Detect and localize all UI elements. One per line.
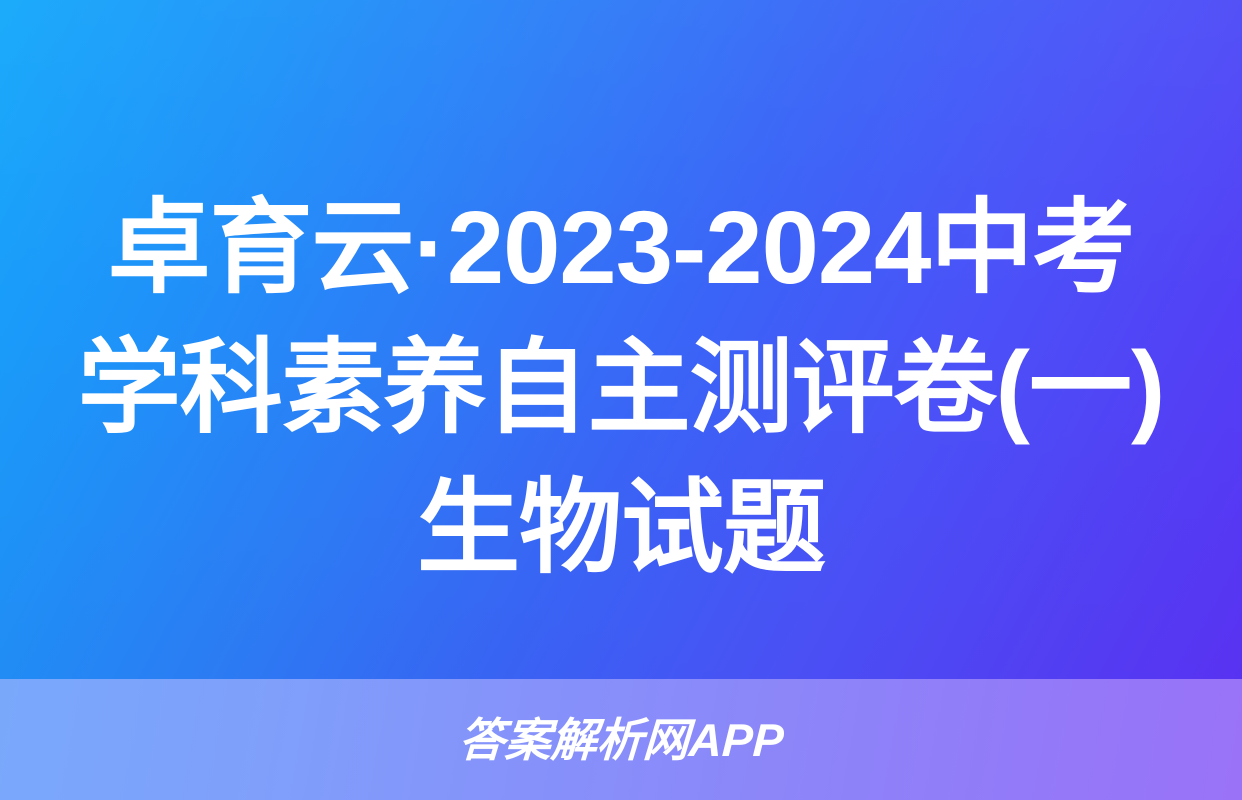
page-title: 卓育云·2023-2024中考 学科素养自主测评卷(一) 生物试题 <box>0 178 1242 598</box>
title-line-2: 学科素养自主测评卷(一) <box>26 318 1216 458</box>
footer-branding-band: 答案解析网APP <box>0 679 1242 800</box>
exam-cover-banner: 卓育云·2023-2024中考 学科素养自主测评卷(一) 生物试题 答案解析网A… <box>0 0 1242 800</box>
title-line-1: 卓育云·2023-2024中考 <box>26 178 1216 318</box>
title-line-3-subject: 生物试题 <box>26 458 1216 598</box>
app-brand-label: 答案解析网APP <box>457 717 784 763</box>
